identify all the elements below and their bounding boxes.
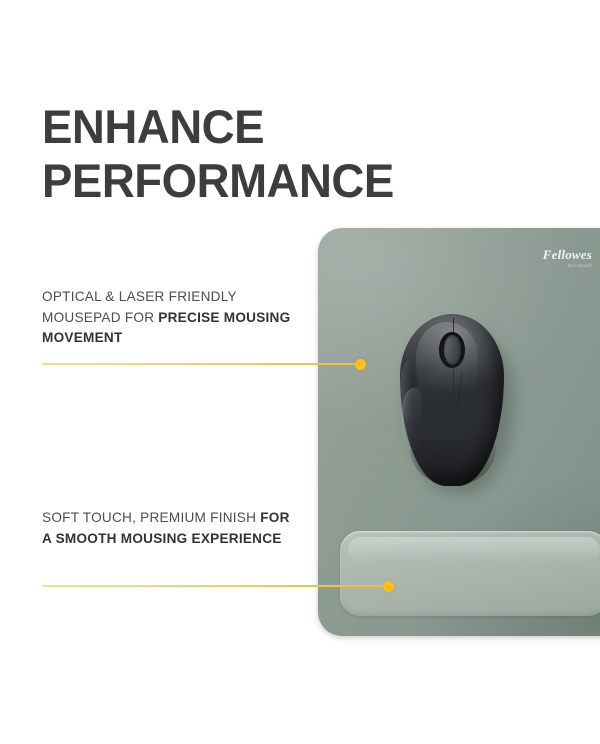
wrist-rest-pad — [340, 531, 600, 616]
callout-1-leader-line — [42, 363, 360, 365]
brand-name-text: Fellowes — [543, 248, 592, 261]
brand-subtitle-text: Microban® — [543, 264, 592, 268]
callout-2-leader-dot — [383, 581, 394, 592]
brand-logo: Fellowes Microban® — [543, 248, 592, 268]
product-image: Fellowes Microban® — [318, 228, 600, 636]
callout-2-leader-line — [42, 585, 388, 587]
headline-line-1: ENHANCE — [42, 100, 479, 154]
callout-1-text: OPTICAL & LASER FRIENDLY MOUSEPAD FOR PR… — [42, 287, 292, 349]
mouse-thumb-grip — [402, 388, 422, 450]
page-title: ENHANCE PERFORMANCE — [42, 100, 479, 208]
callout-2-regular: SOFT TOUCH, PREMIUM FINISH — [42, 510, 260, 525]
callout-1-leader-dot — [355, 359, 366, 370]
computer-mouse — [400, 314, 512, 492]
mousepad-surface: Fellowes Microban® — [318, 228, 600, 636]
mouse-scroll-wheel — [444, 335, 461, 365]
product-feature-card: ENHANCE PERFORMANCE Fellowes Microban® — [0, 0, 600, 744]
callout-2-text: SOFT TOUCH, PREMIUM FINISH FOR A SMOOTH … — [42, 508, 292, 549]
headline-line-2: PERFORMANCE — [42, 154, 479, 208]
wrist-rest-highlight — [348, 537, 600, 563]
